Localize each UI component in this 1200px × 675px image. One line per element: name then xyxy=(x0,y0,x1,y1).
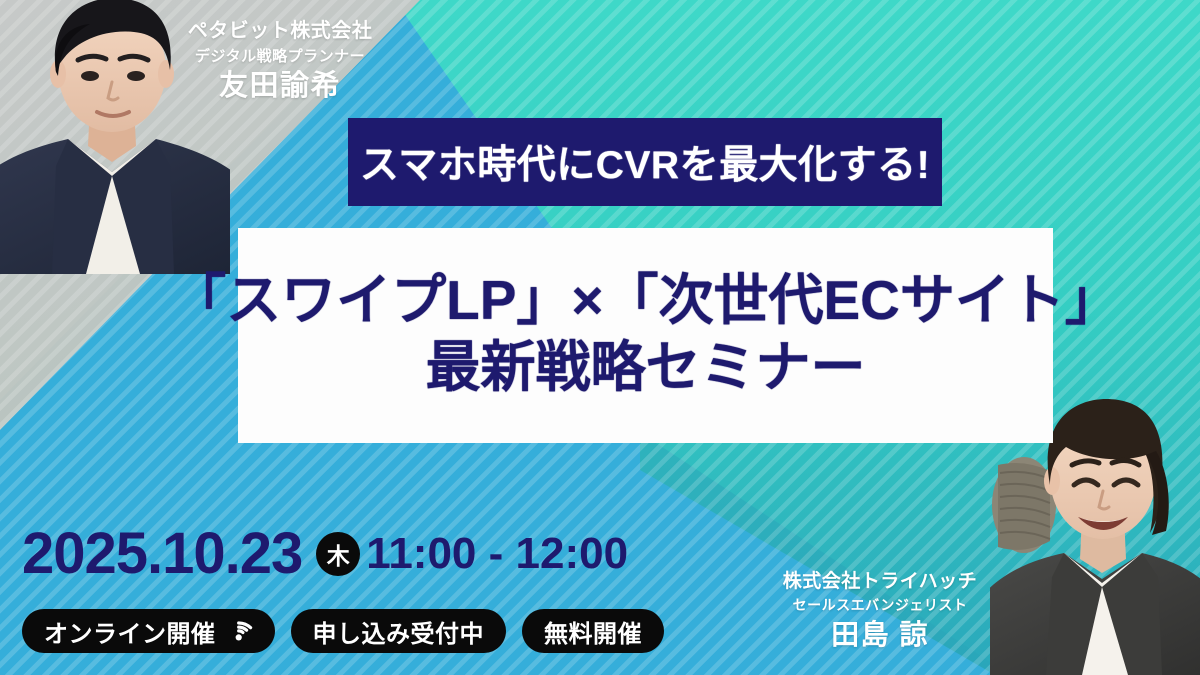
badge-accepting-applications[interactable]: 申し込み受付中 xyxy=(291,609,507,653)
speaker-left-role: デジタル戦略プランナー xyxy=(170,48,390,66)
wifi-icon xyxy=(226,620,253,642)
speaker-right-name: 田島 諒 xyxy=(760,618,1000,651)
badge-accepting-applications-label: 申し込み受付中 xyxy=(313,614,485,649)
speaker-right-company: 株式会社トライハッチ xyxy=(760,571,1000,593)
speaker-caption-left: ペタビット株式会社 デジタル戦略プランナー 友田諭希 xyxy=(170,20,390,104)
badge-free-label: 無料開催 xyxy=(544,614,642,649)
schedule-row: 2025.10.23 木 11:00 - 12:00 xyxy=(22,525,628,583)
schedule-time: 11:00 - 12:00 xyxy=(366,532,628,576)
headline-title-box: 「スワイプLP」×「次世代ECサイト」 最新戦略セミナー xyxy=(238,228,1053,443)
headline-title-line2: 最新戦略セミナー xyxy=(425,333,865,402)
speaker-caption-right: 株式会社トライハッチ セールスエバンジェリスト 田島 諒 xyxy=(760,571,1000,651)
badge-online[interactable]: オンライン開催 xyxy=(22,609,275,653)
schedule-day-of-week-text: 木 xyxy=(327,537,350,571)
headline-title-line1: 「スワイプLP」×「次世代ECサイト」 xyxy=(171,269,1120,333)
headline-kicker-text: スマホ時代にCVRを最大化する! xyxy=(360,134,930,190)
badge-free[interactable]: 無料開催 xyxy=(522,609,664,653)
webinar-banner: ペタビット株式会社 デジタル戦略プランナー 友田諭希 株式会社トライハッチ セー… xyxy=(0,0,1200,675)
schedule-date: 2025.10.23 xyxy=(22,525,302,583)
badge-online-label: オンライン開催 xyxy=(44,614,216,649)
headline-kicker-band: スマホ時代にCVRを最大化する! xyxy=(348,118,942,206)
speaker-right-role: セールスエバンジェリスト xyxy=(760,597,1000,614)
speaker-left-company: ペタビット株式会社 xyxy=(170,20,390,44)
badge-list: オンライン開催 申し込み受付中 無料開催 xyxy=(22,609,664,653)
speaker-left-name: 友田諭希 xyxy=(170,69,390,103)
schedule-day-of-week-badge: 木 xyxy=(316,532,360,576)
